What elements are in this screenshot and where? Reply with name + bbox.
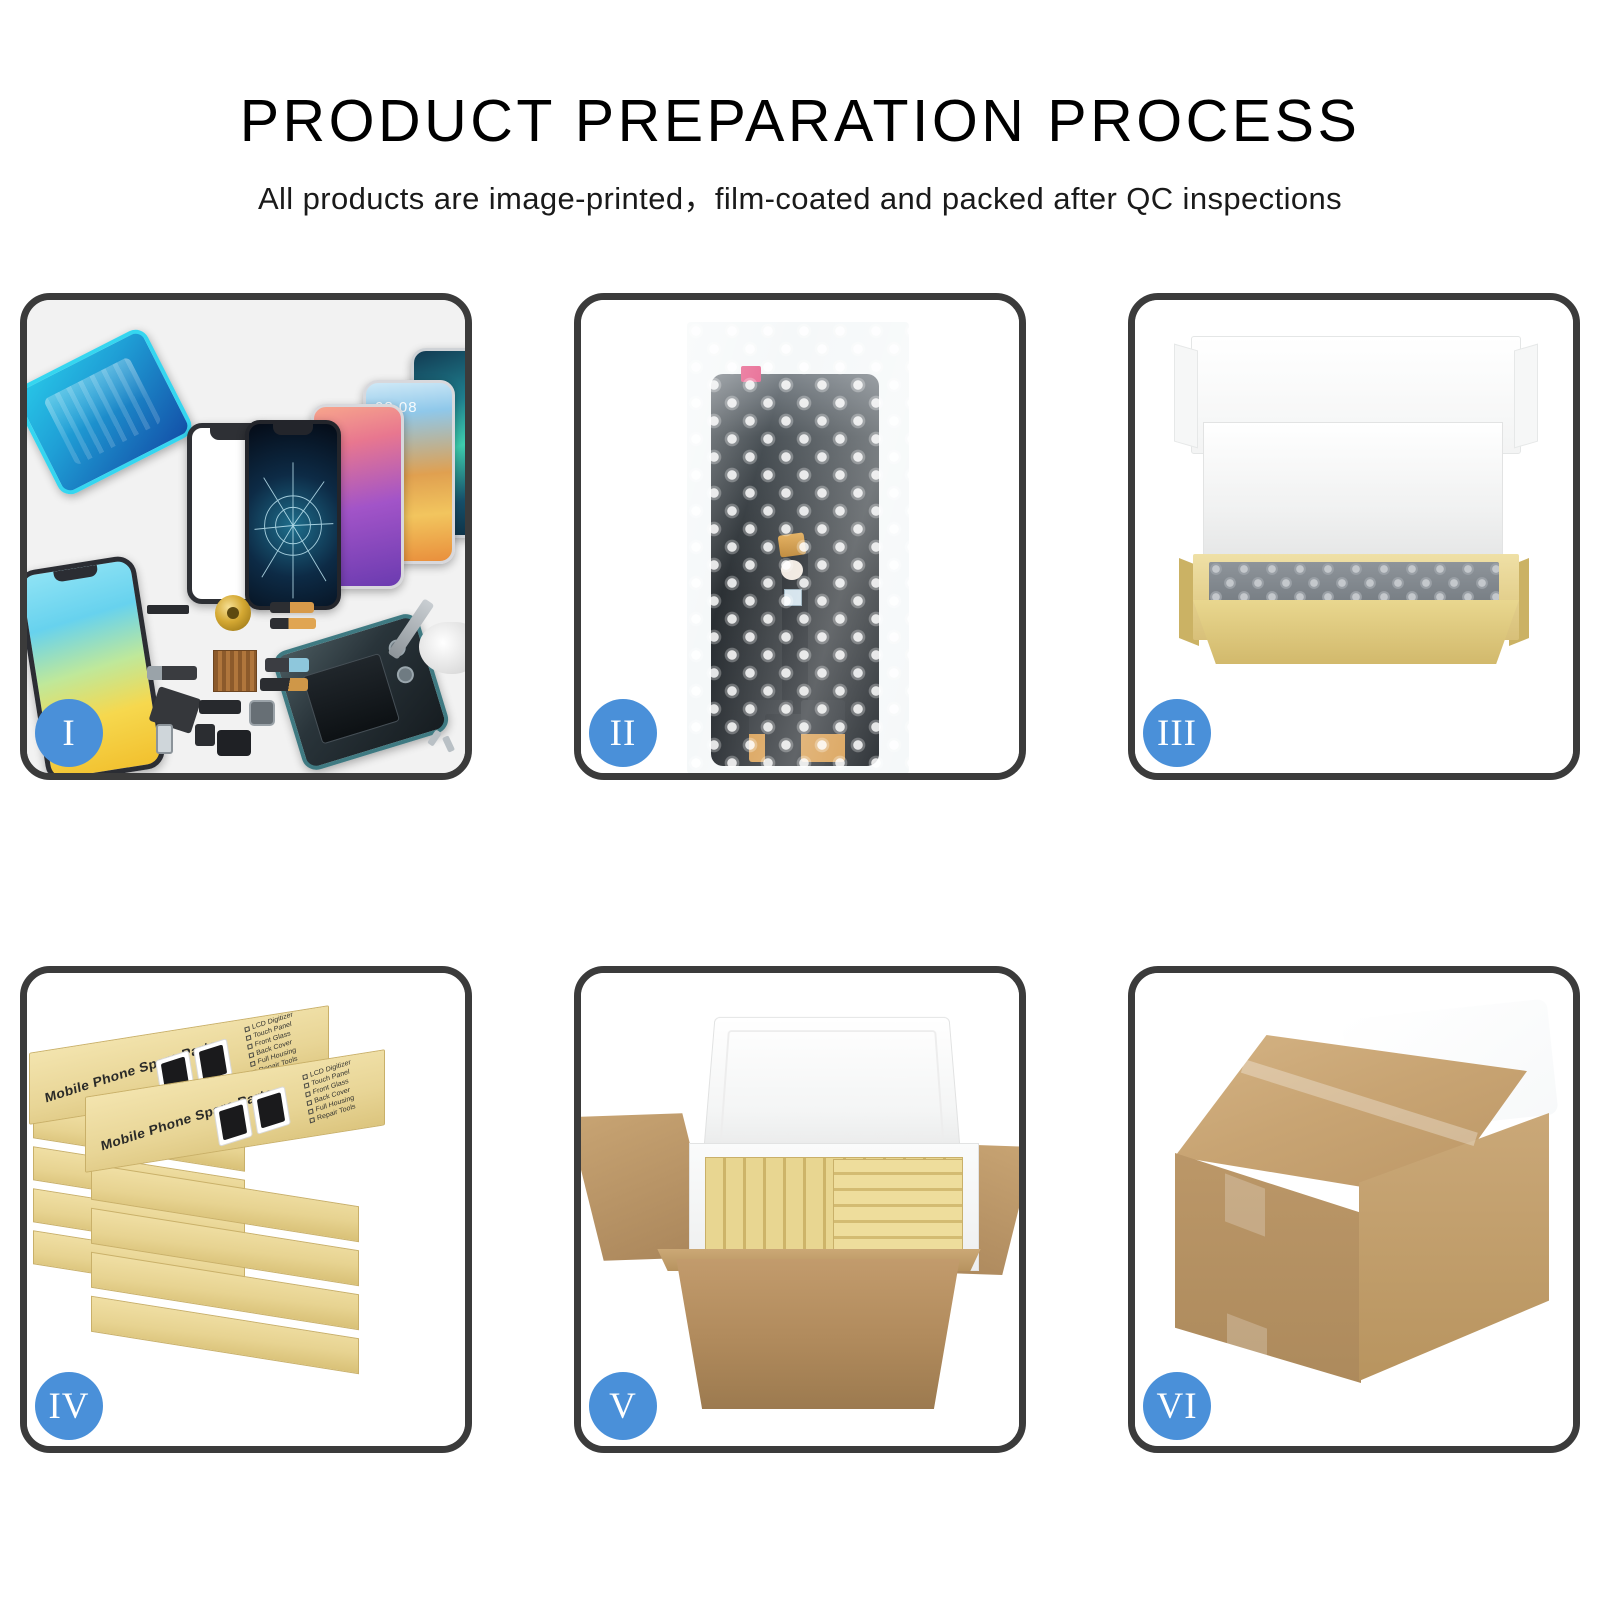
- page-title: PRODUCT PREPARATION PROCESS: [0, 92, 1600, 151]
- vibrator-part: [199, 700, 241, 714]
- process-step-panel-5: V: [574, 966, 1026, 1453]
- process-step-panel-3: III: [1128, 293, 1580, 780]
- ic-chip-part: [213, 650, 257, 692]
- flex-cable-2: [270, 618, 316, 629]
- flex-cable-5: [147, 666, 197, 680]
- flex-cable-4: [260, 678, 308, 691]
- screw-2: [442, 735, 455, 752]
- step-badge-5: V: [589, 1372, 657, 1440]
- taptic-engine-part: [215, 595, 251, 631]
- process-step-panel-6: VI: [1128, 966, 1580, 1453]
- small-component-1: [195, 724, 215, 746]
- flex-cable-3: [265, 658, 309, 672]
- earpiece-mesh-part: [147, 605, 189, 614]
- bubble-wrapped-lcd-photo: [581, 300, 1019, 773]
- bag-sheen: [687, 322, 909, 774]
- header: PRODUCT PREPARATION PROCESS All products…: [0, 0, 1600, 218]
- process-step-grid: 08 08: [20, 293, 1580, 1453]
- gold-box-front: [1193, 600, 1519, 664]
- styrofoam-carton-photo: [581, 973, 1019, 1446]
- adhesive-frame-part: [20, 325, 196, 499]
- step-badge-4: IV: [35, 1372, 103, 1440]
- battery-part: [302, 653, 400, 745]
- step-badge-2: II: [589, 699, 657, 767]
- flex-cable-1: [270, 602, 314, 613]
- camera-lens-2: [395, 664, 416, 685]
- carton-body: [657, 1259, 979, 1409]
- cracked-screen-part: [245, 420, 341, 610]
- page-subtitle: All products are image-printed，film-coat…: [0, 173, 1600, 218]
- stacked-retail-boxes-photo: Mobile Phone Spare Parts LCD Digitizer T…: [27, 973, 465, 1446]
- packed-gold-boxes-right: [833, 1159, 963, 1253]
- crack-lines-icon: [249, 424, 337, 606]
- spare-parts-photo: 08 08: [27, 300, 465, 773]
- product-preparation-infographic: PRODUCT PREPARATION PROCESS All products…: [0, 0, 1600, 1600]
- process-step-panel-4: Mobile Phone Spare Parts LCD Digitizer T…: [20, 966, 472, 1453]
- sim-tray-part: [156, 724, 173, 754]
- speaker-part: [249, 700, 275, 726]
- sealed-carton-photo: [1135, 973, 1573, 1446]
- foam-sheet: [1203, 422, 1503, 570]
- process-step-panel-1: 08 08: [20, 293, 472, 780]
- step-badge-6: VI: [1143, 1372, 1211, 1440]
- small-component-2: [217, 730, 251, 756]
- step-badge-3: III: [1143, 699, 1211, 767]
- bubble-bag: [687, 322, 909, 774]
- styrofoam-lid: [703, 1017, 961, 1156]
- carton-left-face: [1175, 1153, 1361, 1383]
- foam-lined-box-photo: [1135, 300, 1573, 773]
- process-step-panel-2: II: [574, 293, 1026, 780]
- step-badge-1: I: [35, 699, 103, 767]
